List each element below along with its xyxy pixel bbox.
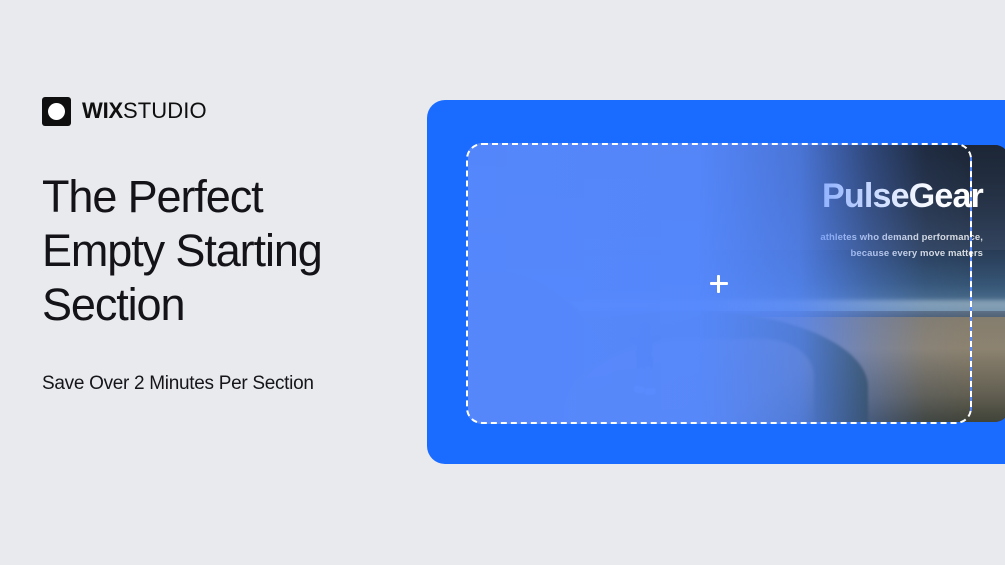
- wix-logo-icon: [42, 97, 71, 126]
- brand-name-wix: WIX: [82, 98, 123, 123]
- wix-logo-dot: [48, 103, 65, 120]
- showcase-card: PulseGear athletes who demand performanc…: [427, 100, 1005, 464]
- brand-name-studio: STUDIO: [123, 98, 207, 123]
- slide-canvas: WIXSTUDIO The Perfect Empty Starting Sec…: [0, 0, 1005, 565]
- brand-wordmark: WIXSTUDIO: [82, 100, 207, 122]
- page-title: The Perfect Empty Starting Section: [42, 170, 372, 332]
- plus-icon[interactable]: [710, 275, 728, 293]
- page-subtitle: Save Over 2 Minutes Per Section: [42, 371, 402, 397]
- wix-studio-logo: WIXSTUDIO: [42, 96, 402, 126]
- left-content-column: WIXSTUDIO The Perfect Empty Starting Sec…: [42, 96, 402, 397]
- empty-section-placeholder[interactable]: [466, 143, 972, 424]
